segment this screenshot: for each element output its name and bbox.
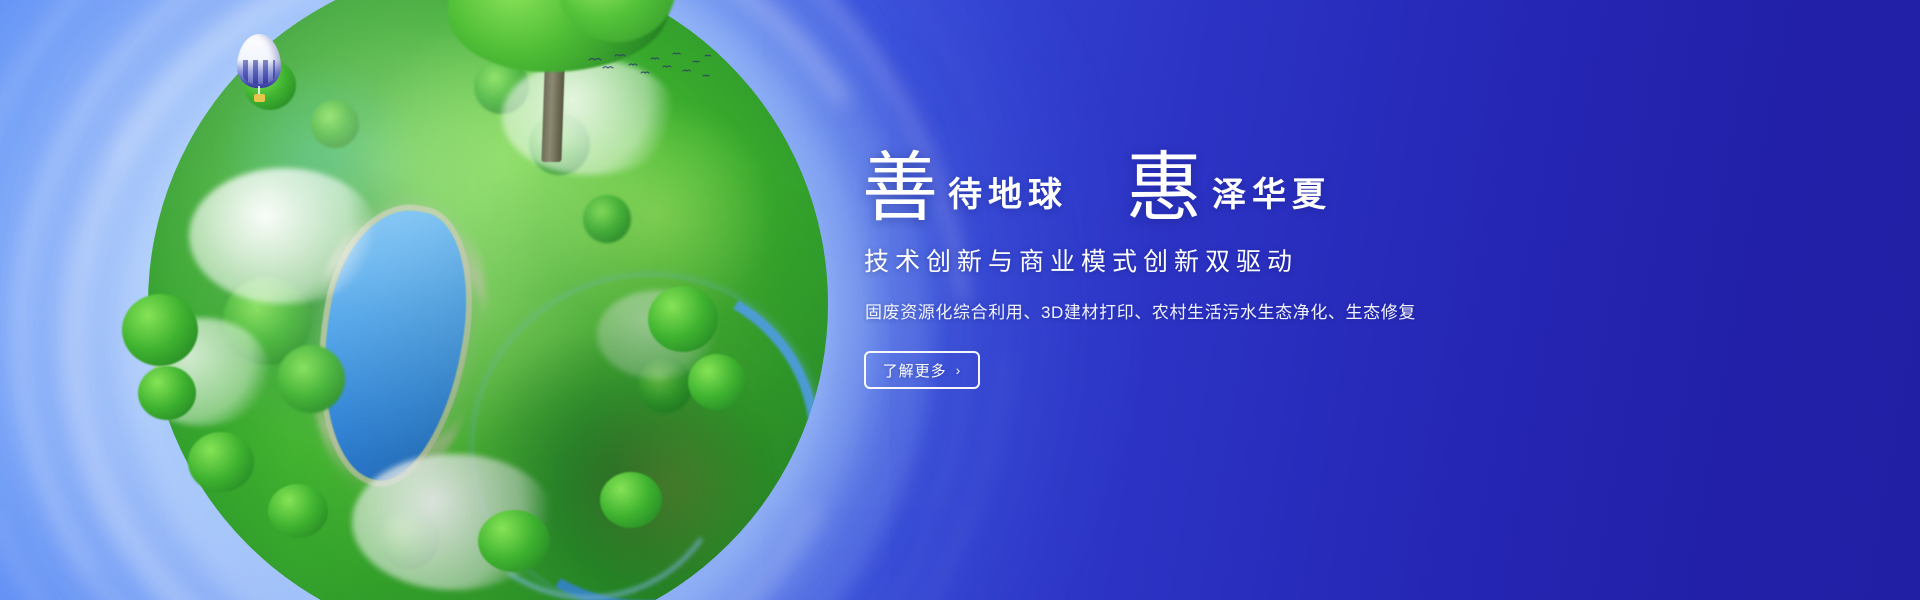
rim-tree-6	[268, 484, 328, 538]
forest-clump-4	[583, 195, 631, 243]
headline-lead-char-1: 善	[862, 152, 938, 224]
rim-tree-3	[188, 432, 254, 492]
rim-tree-1	[122, 294, 198, 366]
headline-lead-char-2: 惠	[1126, 152, 1202, 224]
rim-tree-2	[138, 366, 196, 420]
balloon-envelope	[237, 34, 281, 88]
headline-phrase-1: 善 待地球	[862, 152, 1068, 224]
page-title: 善 待地球 惠 泽华夏	[862, 132, 1622, 224]
hero-content: 善 待地球 惠 泽华夏 技术创新与商业模式创新双驱动 固废资源化综合利用、3D建…	[862, 132, 1622, 389]
forest-clump-8	[311, 100, 359, 148]
headline-phrase-2: 惠 泽华夏	[1126, 152, 1332, 224]
learn-more-label: 了解更多	[883, 360, 947, 381]
subtitle: 技术创新与商业模式创新双驱动	[864, 242, 1622, 278]
balloon-basket	[254, 94, 265, 102]
rim-tree-7	[478, 510, 550, 572]
chevron-right-icon: ›	[956, 362, 962, 378]
learn-more-button[interactable]: 了解更多 ›	[864, 351, 980, 389]
headline-rest-1: 待地球	[948, 178, 1068, 212]
hot-air-balloon-icon	[237, 34, 281, 106]
rim-tree-4	[648, 286, 718, 352]
rim-tree-8	[600, 472, 662, 528]
headline-rest-2: 泽华夏	[1212, 178, 1332, 212]
rim-tree-5	[688, 354, 746, 410]
bird-flock-icon	[585, 48, 715, 88]
hero-banner: 善 待地球 惠 泽华夏 技术创新与商业模式创新双驱动 固废资源化综合利用、3D建…	[0, 0, 1920, 600]
forest-clump-2	[277, 345, 345, 413]
planet-cloud-1	[189, 168, 379, 304]
description-text: 固废资源化综合利用、3D建材打印、农村生活污水生态净化、生态修复	[865, 298, 1622, 323]
